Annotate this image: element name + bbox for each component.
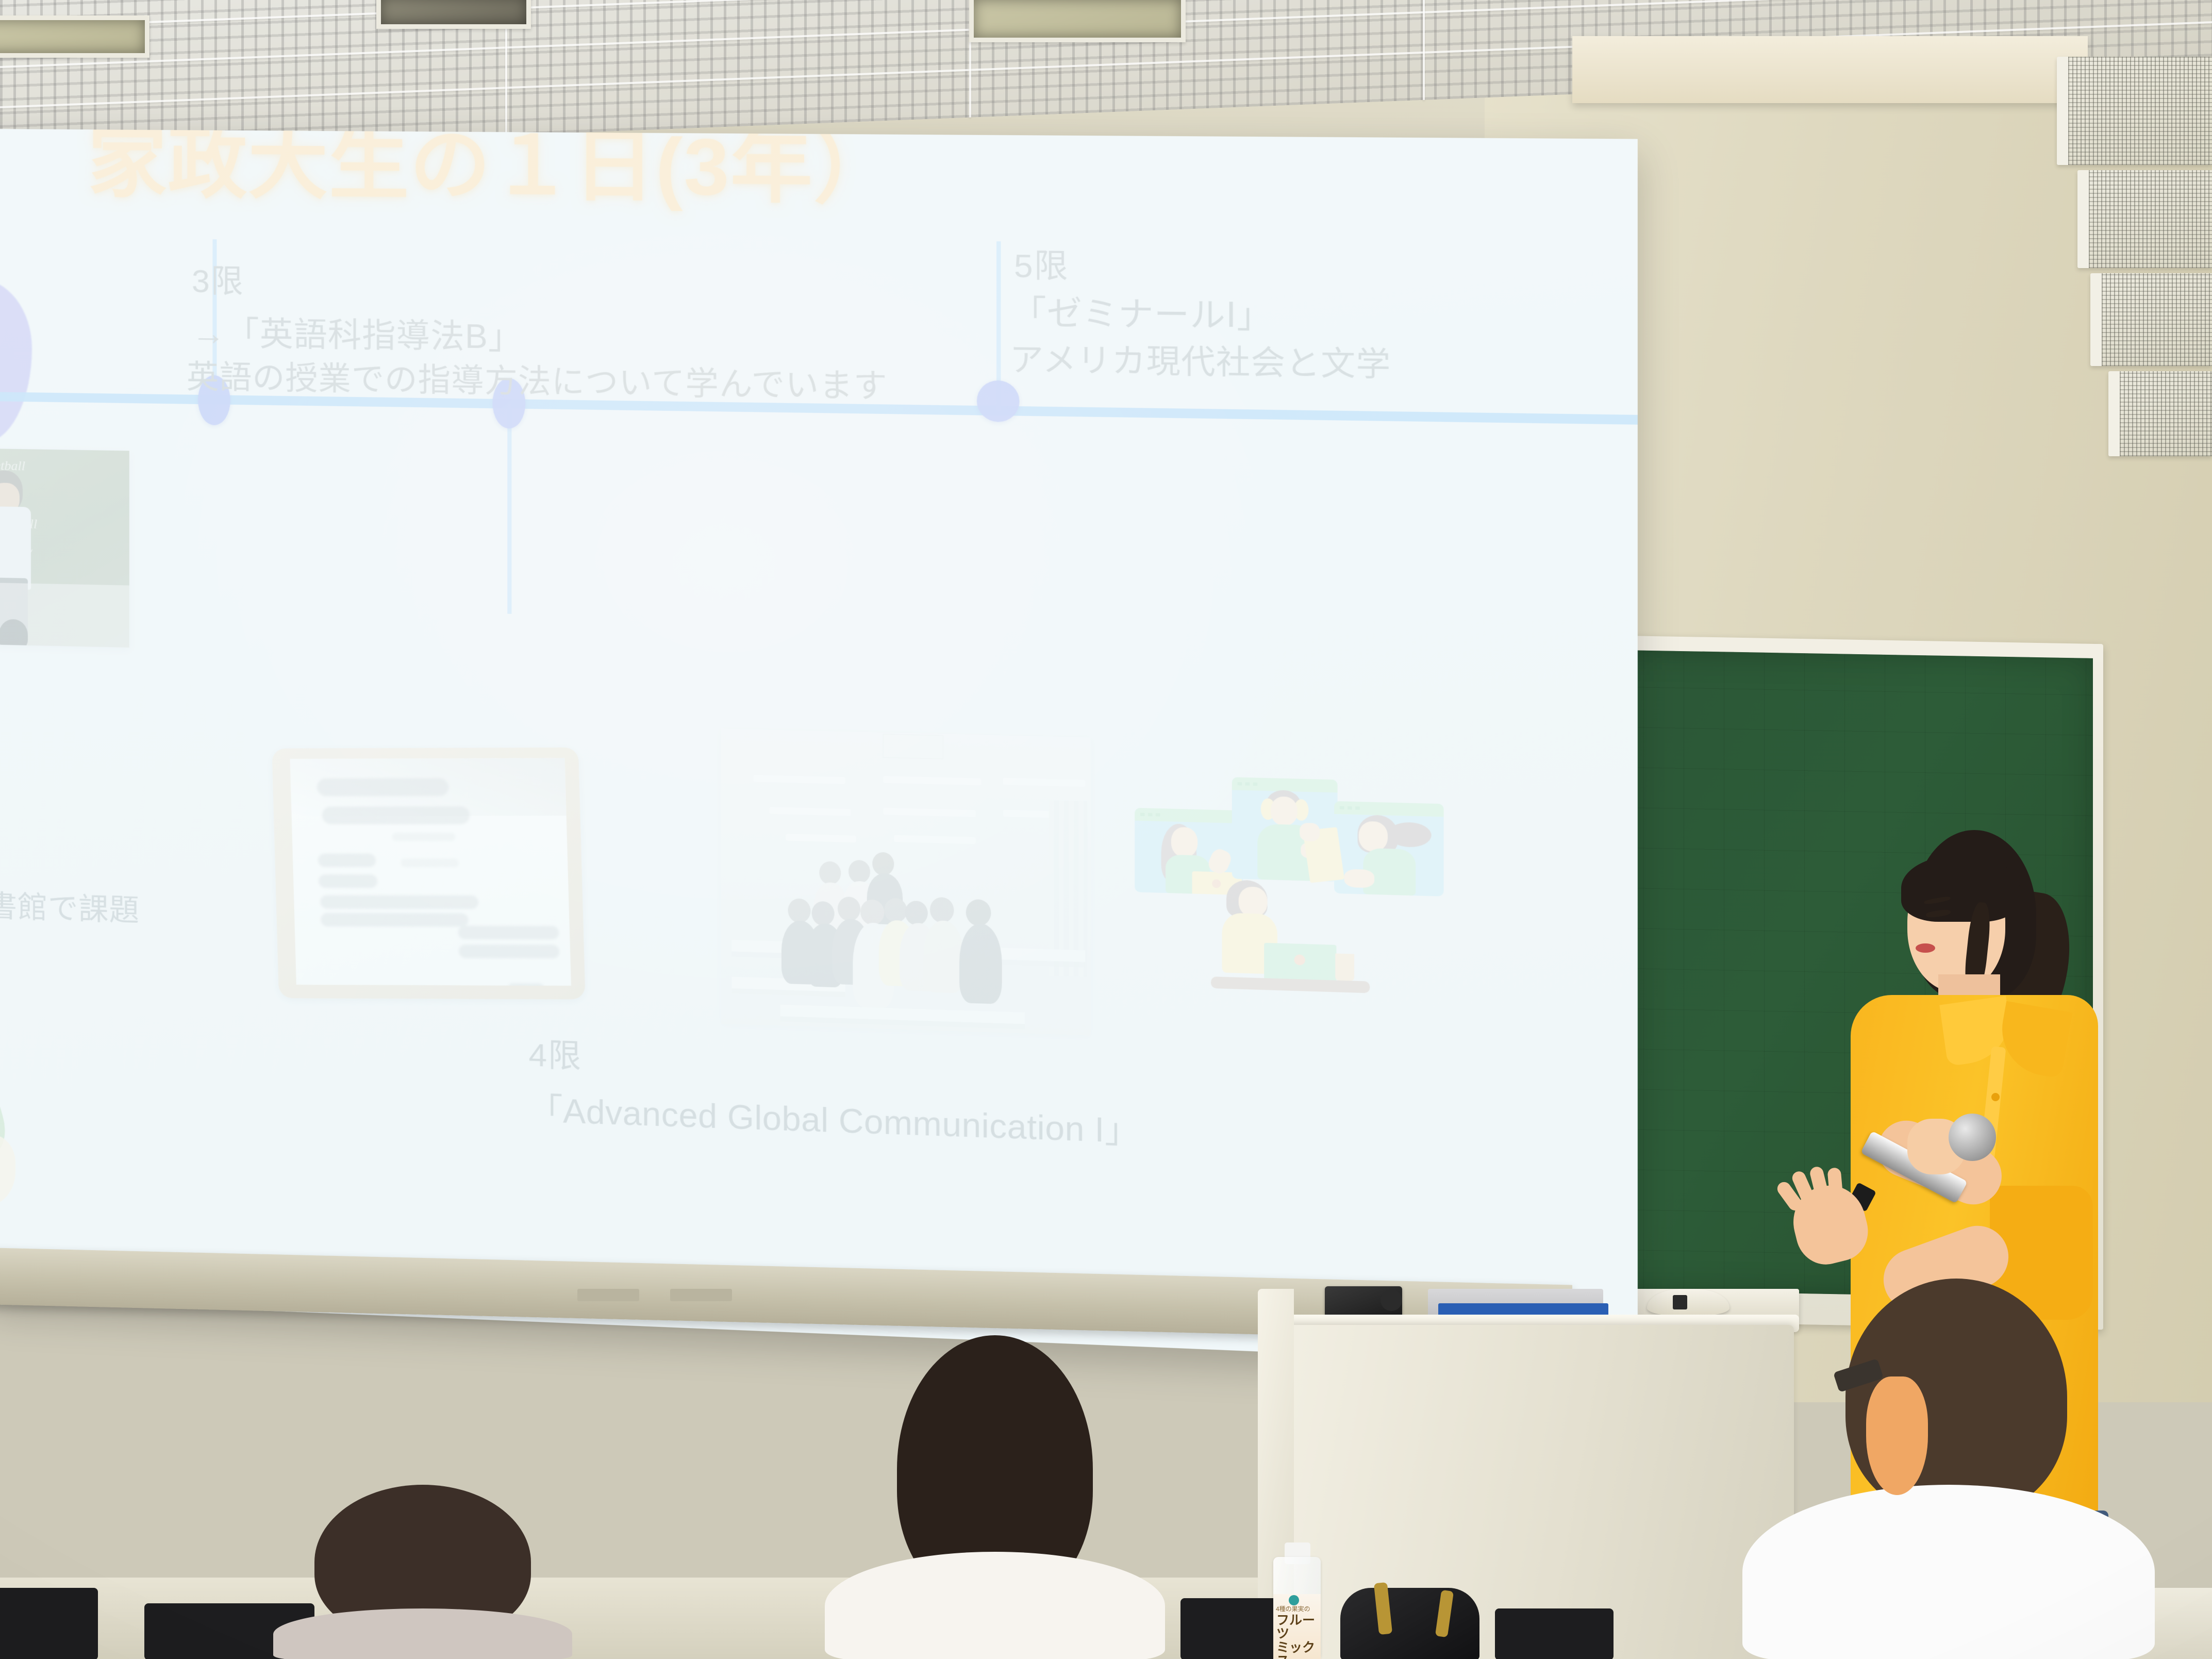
slide-title: 家政大生の１日(3年） (88, 129, 896, 219)
slide-period-4-course: 「Advanced Global Communication I」 (528, 1083, 1140, 1153)
handbag (1340, 1588, 1479, 1659)
wall-speaker-panel-3 (2090, 273, 2212, 366)
lecture-hall-photo: aimu 家政大生の１日(3年） 3限 →「英語科指導法B」 英語の授業での指導… (0, 0, 2212, 1659)
bottle-label: 4種の果実の フルーツミックス (1273, 1594, 1321, 1659)
chair-back-1 (0, 1588, 98, 1659)
bottle-label-sub: 4種の果実の (1276, 1604, 1310, 1613)
slide-period-5-description: アメリカ現代社会と文学 (1009, 333, 1391, 386)
timeline-stem-4 (507, 404, 511, 613)
slide-period-4-label: 4限 (528, 1028, 582, 1077)
bottle-label-name: フルーツミックス (1276, 1614, 1321, 1659)
bottle-logo-icon (1289, 1595, 1299, 1605)
audience-ear-and-neck (1866, 1376, 1928, 1495)
slide-period-3-description: 英語の授業での指導方法について学んでいます (187, 351, 888, 407)
slide-surface: 家政大生の１日(3年） 3限 →「英語科指導法B」 英語の授業での指導方法につい… (0, 129, 1638, 1367)
timeline-dot-5 (977, 380, 1020, 422)
wall-speaker-panel-1 (2057, 57, 2212, 165)
audience-member-front-right (1711, 1279, 2155, 1659)
slide-period-5-label: 5限 (1014, 239, 1069, 287)
presenter-shirt-button (1991, 1093, 2000, 1101)
slide-period-3-label: 3限 (192, 255, 244, 302)
ceiling-air-duct-right (969, 0, 1186, 42)
screen-clip-right (670, 1289, 732, 1301)
wall-speaker-panel-2 (2077, 170, 2212, 268)
slide-illustration-online-meeting (1124, 754, 1469, 1032)
audience-member-far-left (227, 1480, 619, 1659)
decorative-plant-icon (0, 1097, 31, 1208)
projection-screen: 家政大生の１日(3年） 3限 →「英語科指導法B」 英語の授業での指導方法につい… (0, 129, 1638, 1367)
screen-clip-left (577, 1289, 639, 1301)
chair-back-4 (1495, 1608, 1614, 1659)
ceiling-air-vent-mid (376, 0, 531, 29)
slide-period-5-course: 「ゼミナールⅠ」 (1011, 286, 1273, 338)
slide-period-3-course: →「英語科指導法B」 (192, 307, 523, 359)
audience-member-front-left (820, 1335, 1191, 1659)
slide-photo-tablet-chat (272, 748, 585, 1000)
slide-photo-classroom-lesson: Topic: basketball T: Ask me . Ss: Q____ … (0, 447, 129, 648)
decorative-purple-blob (0, 278, 32, 444)
wall-speaker-panel-4 (2108, 371, 2212, 456)
presenter-fringe (1901, 855, 2020, 922)
ceiling-air-vent-left (0, 15, 149, 58)
eraser-sensor-icon (1673, 1295, 1687, 1309)
microphone-head (1949, 1114, 1996, 1161)
ceiling-beam-soffit (1572, 36, 2088, 103)
chair-back-3 (1180, 1598, 1284, 1659)
presenter-mouth (1916, 943, 1935, 953)
slide-photo-seminar-group (721, 729, 1091, 1036)
slide-left-cutoff-text: と/図書館で課題 (0, 880, 140, 930)
